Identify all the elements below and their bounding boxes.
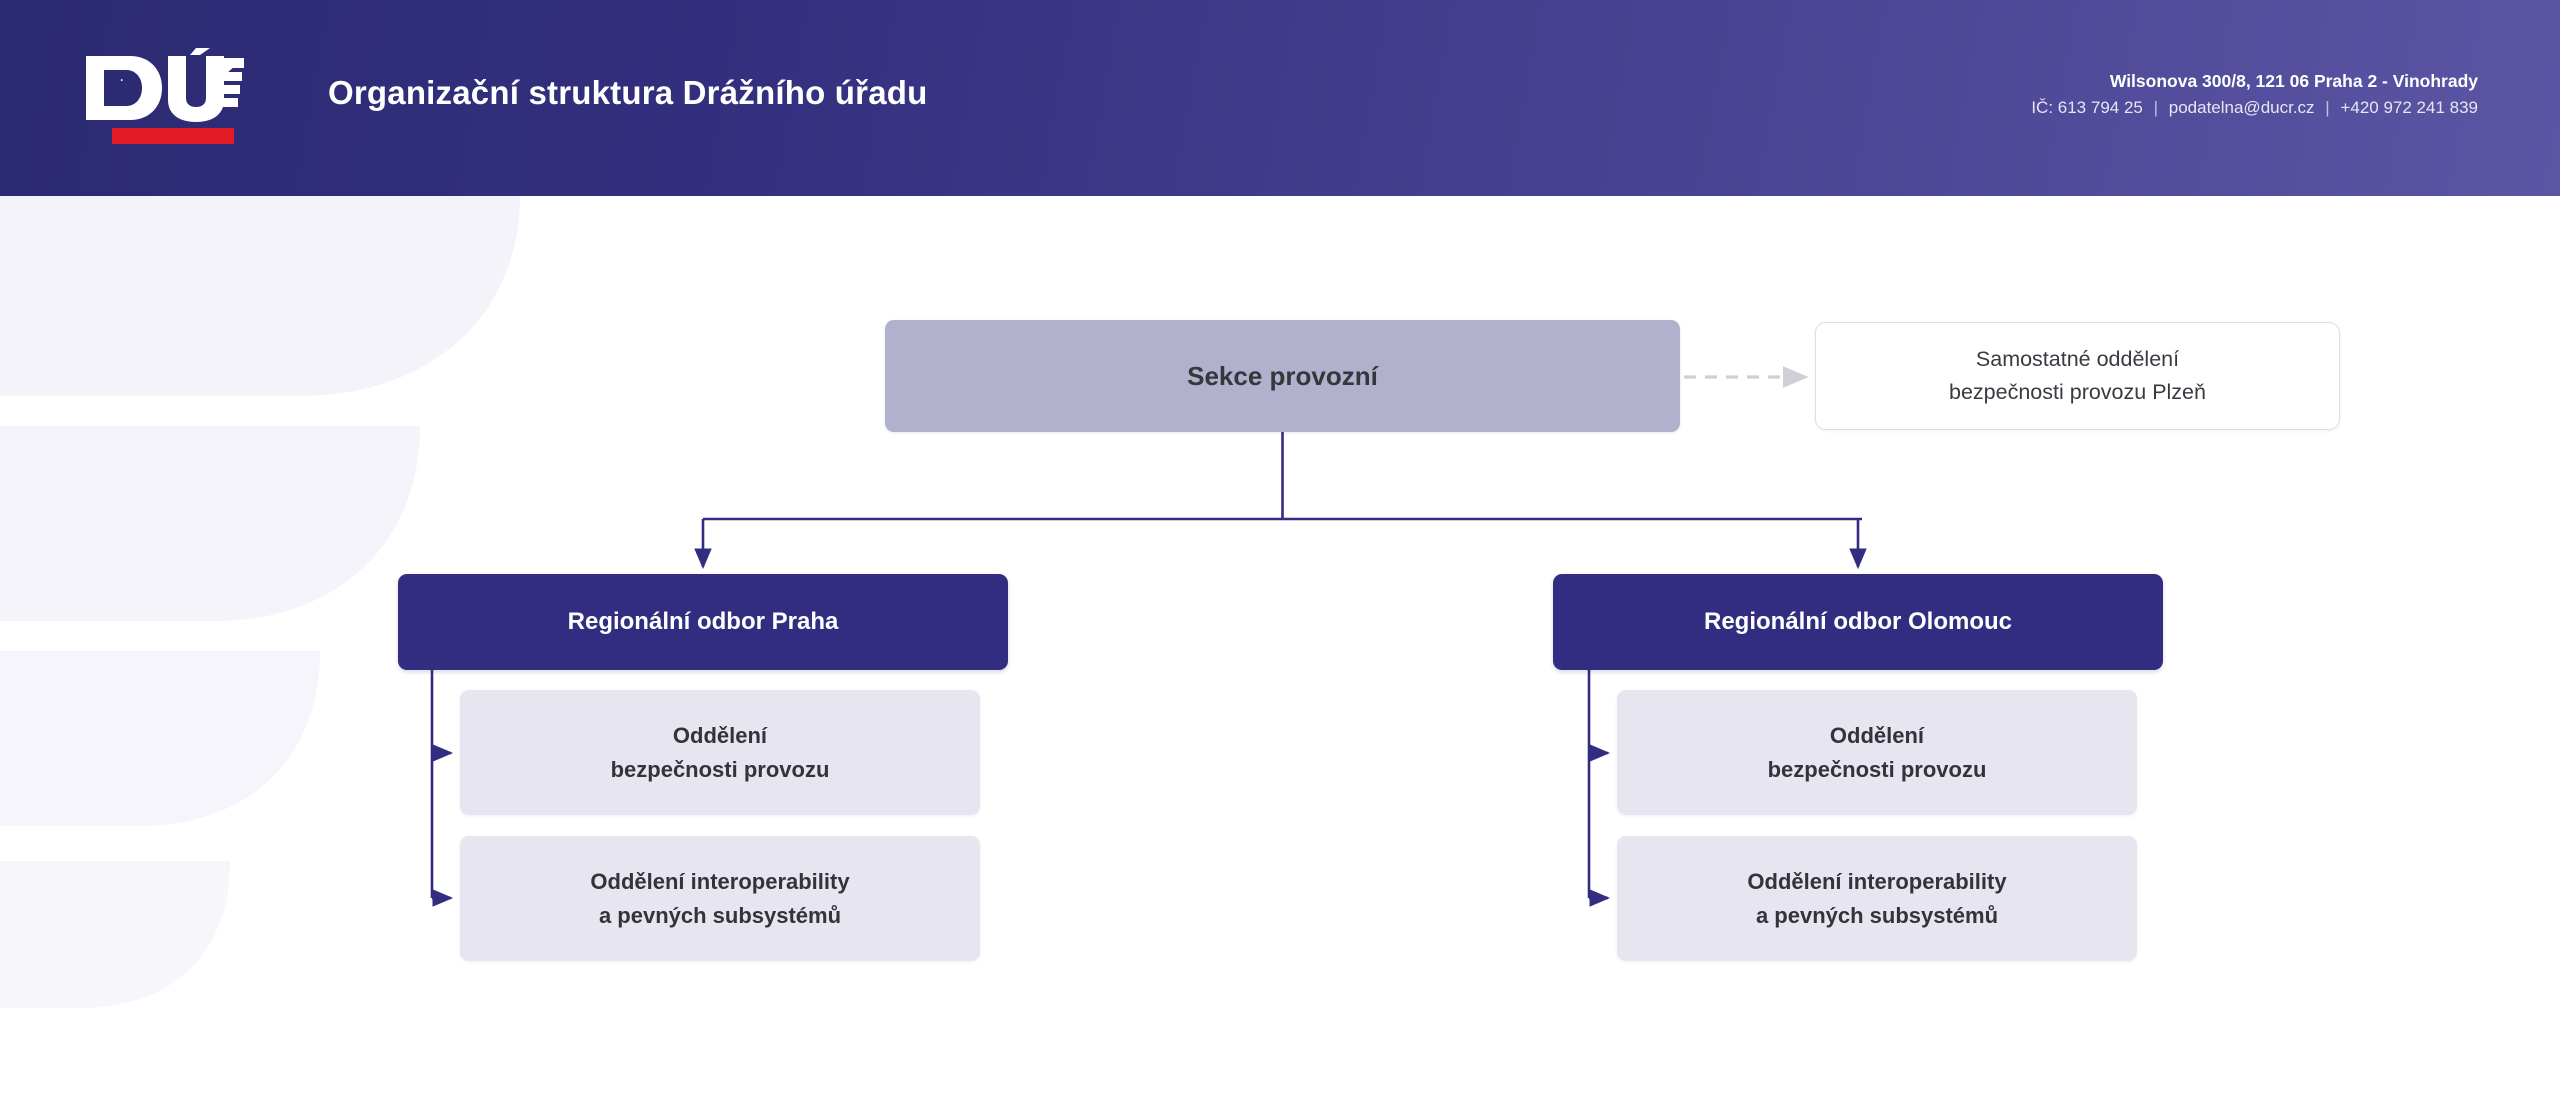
node-sekce-provozni-label: Sekce provozní [1169, 361, 1396, 392]
org-chart: Sekce provozní Samostatné oddělení bezpe… [0, 196, 2560, 1093]
node-olomouc-child-1-label: Oddělení bezpečnosti provozu [1750, 719, 2005, 786]
node-praha-child-2-label: Oddělení interoperability a pevných subs… [572, 865, 867, 932]
node-plzen-label-line2: bezpečnosti provozu Plzeň [1949, 380, 2206, 404]
contact-ic: IČ: 613 794 25 [2031, 98, 2143, 117]
node-olomouc-child-2-line2: a pevných subsystémů [1756, 903, 1998, 928]
ducr-logo [84, 48, 244, 148]
contact-info: Wilsonova 300/8, 121 06 Praha 2 - Vinohr… [2031, 68, 2478, 122]
node-praha-child-2-line2: a pevných subsystémů [599, 903, 841, 928]
node-plzen-label: Samostatné oddělení bezpečnosti provozu … [1931, 343, 2224, 410]
contact-details: IČ: 613 794 25 | podatelna@ducr.cz | +42… [2031, 94, 2478, 122]
node-praha-oddeleni-bezpecnosti-provozu[interactable]: Oddělení bezpečnosti provozu [460, 690, 980, 815]
node-praha-child-2-line1: Oddělení interoperability [590, 869, 849, 894]
node-plzen-label-line1: Samostatné oddělení [1976, 347, 2179, 371]
node-olomouc-child-2-line1: Oddělení interoperability [1747, 869, 2006, 894]
node-regionalni-odbor-olomouc-label: Regionální odbor Olomouc [1686, 608, 2030, 636]
node-regionalni-odbor-praha[interactable]: Regionální odbor Praha [398, 574, 1008, 670]
node-praha-child-1-line2: bezpečnosti provozu [611, 757, 830, 782]
node-sekce-provozni[interactable]: Sekce provozní [885, 320, 1680, 432]
node-olomouc-oddeleni-interoperability[interactable]: Oddělení interoperability a pevných subs… [1617, 836, 2137, 961]
node-olomouc-child-1-line2: bezpečnosti provozu [1768, 757, 1987, 782]
node-praha-child-1-line1: Oddělení [673, 723, 767, 748]
node-regionalni-odbor-praha-label: Regionální odbor Praha [550, 608, 857, 636]
contact-separator-1: | [2148, 98, 2164, 117]
contact-separator-2: | [2319, 98, 2335, 117]
node-praha-child-1-label: Oddělení bezpečnosti provozu [593, 719, 848, 786]
node-samostatne-oddeleni-plzen[interactable]: Samostatné oddělení bezpečnosti provozu … [1815, 322, 2340, 430]
node-olomouc-child-2-label: Oddělení interoperability a pevných subs… [1729, 865, 2024, 932]
contact-phone[interactable]: +420 972 241 839 [2340, 98, 2478, 117]
page-title: Organizační struktura Drážního úřadu [328, 74, 927, 112]
contact-address: Wilsonova 300/8, 121 06 Praha 2 - Vinohr… [2031, 68, 2478, 94]
node-praha-oddeleni-interoperability[interactable]: Oddělení interoperability a pevných subs… [460, 836, 980, 961]
contact-email[interactable]: podatelna@ducr.cz [2169, 98, 2315, 117]
page-header: Organizační struktura Drážního úřadu Wil… [0, 0, 2560, 196]
org-chart-page: Organizační struktura Drážního úřadu Wil… [0, 0, 2560, 1093]
node-olomouc-oddeleni-bezpecnosti-provozu[interactable]: Oddělení bezpečnosti provozu [1617, 690, 2137, 815]
node-olomouc-child-1-line1: Oddělení [1830, 723, 1924, 748]
node-regionalni-odbor-olomouc[interactable]: Regionální odbor Olomouc [1553, 574, 2163, 670]
